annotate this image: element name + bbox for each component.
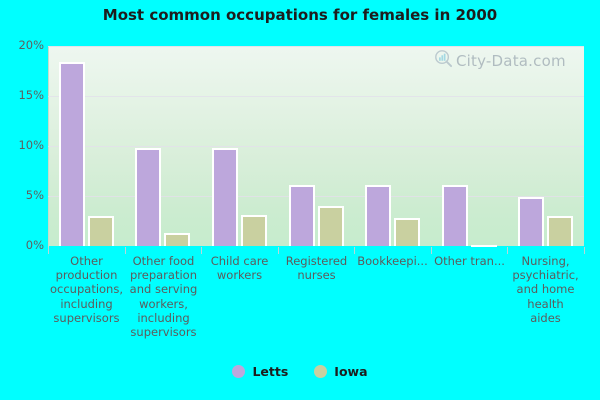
bar-iowa-5[interactable] — [471, 245, 497, 247]
bar-iowa-1[interactable] — [164, 233, 190, 246]
bar-letts-6[interactable] — [518, 197, 544, 246]
x-axis-tick-6 — [507, 247, 508, 254]
x-axis-label-3: Registered nurses — [278, 254, 355, 282]
legend: Letts Iowa — [0, 364, 600, 379]
x-axis-label-4: Bookkeepi... — [354, 254, 431, 268]
bar-iowa-4[interactable] — [394, 218, 420, 246]
bar-letts-4[interactable] — [365, 185, 391, 246]
x-axis-label-1: Other food preparation and serving worke… — [125, 254, 202, 339]
x-axis-label-2: Child care workers — [201, 254, 278, 282]
x-axis-tick-4 — [354, 247, 355, 254]
y-tick-label-5: 5% — [0, 188, 44, 202]
legend-item-iowa[interactable]: Iowa — [314, 364, 367, 379]
gridline-15 — [48, 96, 584, 97]
bar-letts-2[interactable] — [212, 148, 238, 246]
legend-label-iowa: Iowa — [334, 364, 367, 379]
chart-title: Most common occupations for females in 2… — [0, 6, 600, 24]
bar-iowa-0[interactable] — [88, 216, 114, 246]
x-axis-tick-2 — [201, 247, 202, 254]
x-axis-tick-1 — [125, 247, 126, 254]
chart-container: Most common occupations for females in 2… — [0, 0, 600, 400]
x-axis-tick-edge-7 — [584, 247, 585, 254]
x-axis-label-5: Other tran... — [431, 254, 508, 268]
legend-swatch-iowa — [314, 365, 327, 378]
gridline-20 — [48, 46, 584, 47]
legend-label-letts: Letts — [252, 364, 288, 379]
x-axis-label-0: Other production occupations, including … — [48, 254, 125, 325]
bar-letts-3[interactable] — [289, 185, 315, 246]
bar-iowa-6[interactable] — [547, 216, 573, 246]
legend-item-letts[interactable]: Letts — [232, 364, 288, 379]
gridline-10 — [48, 146, 584, 147]
bar-iowa-3[interactable] — [318, 206, 344, 246]
y-tick-label-0: 0% — [0, 238, 44, 252]
bar-iowa-2[interactable] — [241, 215, 267, 246]
gridline-5 — [48, 196, 584, 197]
x-axis-tick-5 — [431, 247, 432, 254]
y-tick-label-15: 15% — [0, 88, 44, 102]
legend-swatch-letts — [232, 365, 245, 378]
x-axis-label-6: Nursing, psychiatric, and home health ai… — [507, 254, 584, 325]
bar-letts-0[interactable] — [59, 62, 85, 246]
bar-letts-5[interactable] — [442, 185, 468, 246]
bar-letts-1[interactable] — [135, 148, 161, 246]
y-tick-label-20: 20% — [0, 38, 44, 52]
x-axis-tick-3 — [278, 247, 279, 254]
x-axis-tick-edge-0 — [48, 247, 49, 254]
y-tick-label-10: 10% — [0, 138, 44, 152]
